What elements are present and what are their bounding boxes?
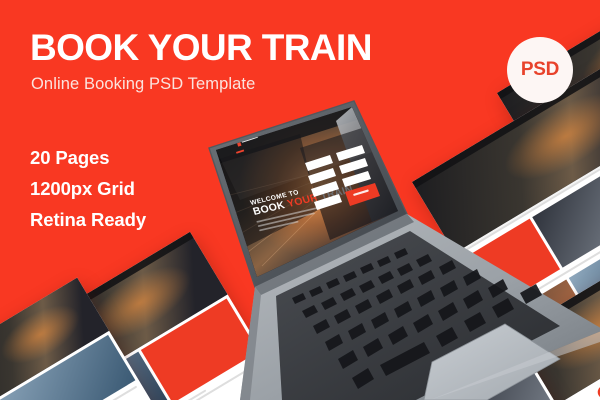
feature-item-retina: Retina Ready	[30, 204, 146, 235]
psd-badge[interactable]: PSD	[507, 37, 573, 103]
page-title: BOOK YOUR TRAIN	[30, 28, 372, 68]
promo-banner: WELCOME TO BOOK YOUR TRAIN	[0, 0, 600, 400]
feature-item-grid: 1200px Grid	[30, 173, 146, 204]
page-subtitle: Online Booking PSD Template	[31, 74, 372, 94]
psd-badge-label: PSD	[521, 59, 559, 81]
headline-block: BOOK YOUR TRAIN Online Booking PSD Templ…	[30, 28, 372, 94]
feature-list: 20 Pages 1200px Grid Retina Ready	[30, 142, 146, 235]
feature-item-pages: 20 Pages	[30, 142, 146, 173]
mockup-feature-icon	[595, 383, 600, 400]
